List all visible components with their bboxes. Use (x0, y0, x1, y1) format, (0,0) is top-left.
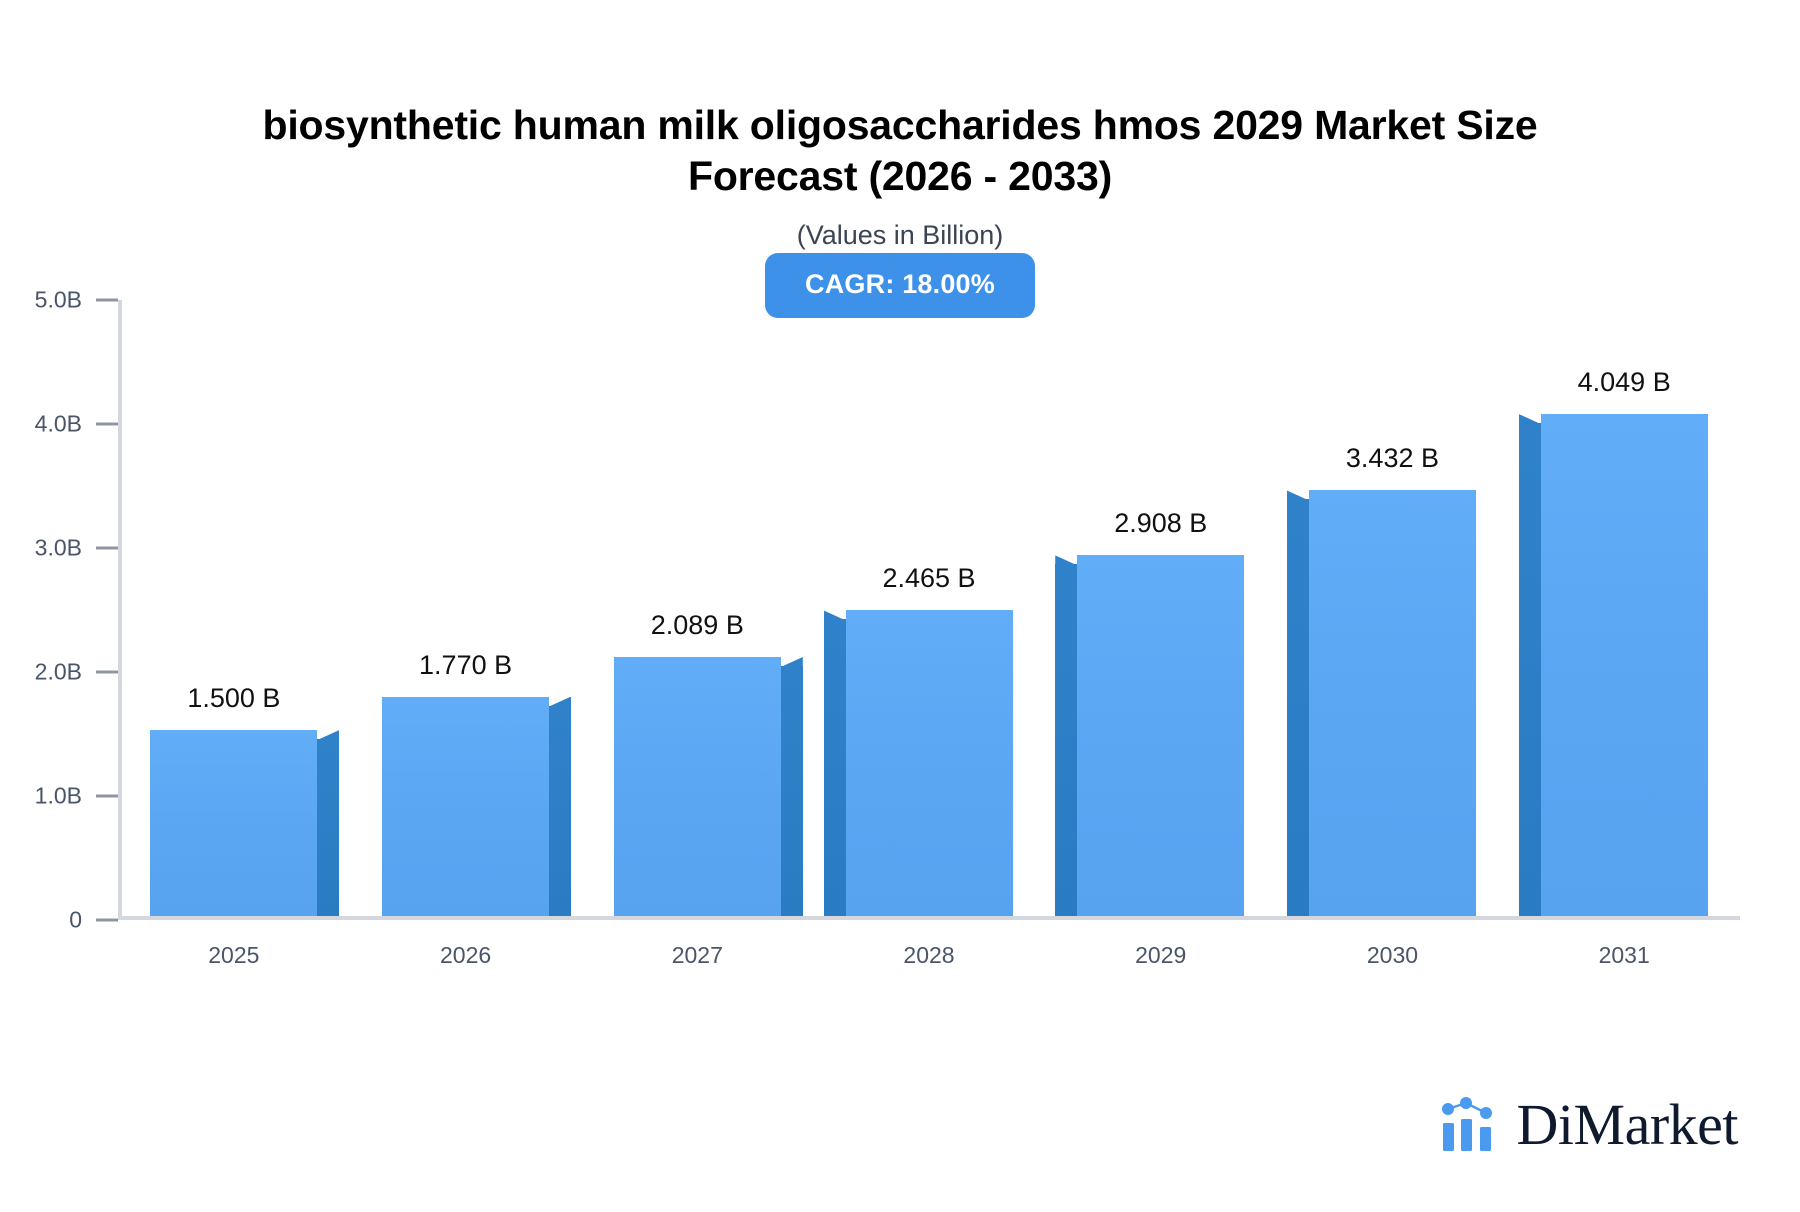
bar-front-face (382, 697, 549, 916)
bar-side-face (549, 706, 571, 916)
bar-slot: 1.500 B (118, 300, 350, 916)
bar-slot: 2.089 B (581, 300, 813, 916)
bar-value-label: 3.432 B (1346, 443, 1439, 474)
bar-top-cap (1055, 555, 1077, 565)
bar-slot: 2.465 B (813, 300, 1045, 916)
bar-series: 1.500 B1.770 B2.089 B2.465 B2.908 B3.432… (118, 300, 1740, 916)
y-axis-tick: 3.0B (35, 535, 118, 562)
y-axis-tick-dash (96, 547, 118, 550)
bar[interactable]: 3.432 B (1309, 490, 1476, 916)
bar-value-label: 1.500 B (187, 683, 280, 714)
bar-value-label: 2.908 B (1114, 508, 1207, 539)
bar[interactable]: 4.049 B (1541, 414, 1708, 916)
bar-slot: 4.049 B (1508, 300, 1740, 916)
y-axis-tick: 2.0B (35, 659, 118, 686)
y-axis-tick-label: 3.0B (35, 535, 82, 562)
bar[interactable]: 1.500 B (150, 730, 317, 916)
bar-front-face (614, 657, 781, 916)
y-axis-tick-dash (96, 671, 118, 674)
bar-side-face (1055, 564, 1077, 916)
bar[interactable]: 2.908 B (1077, 555, 1244, 916)
bar-top-cap (1287, 490, 1309, 500)
x-axis-tick-label: 2028 (813, 942, 1045, 969)
page-title: biosynthetic human milk oligosaccharides… (0, 0, 1800, 202)
y-axis-tick: 5.0B (35, 287, 118, 314)
bar-value-label: 1.770 B (419, 650, 512, 681)
bar-front-face (1077, 555, 1244, 916)
y-axis-tick-dash (96, 299, 118, 302)
bar-chart-logo-icon (1441, 1097, 1503, 1153)
x-axis-tick-label: 2031 (1508, 942, 1740, 969)
y-axis-tick-label: 4.0B (35, 411, 82, 438)
dimarket-logo: DiMarket (1441, 1096, 1739, 1154)
y-axis-tick: 0 (69, 907, 118, 934)
bar-slot: 3.432 B (1277, 300, 1509, 916)
y-axis-tick-dash (96, 795, 118, 798)
y-axis-tick: 1.0B (35, 783, 118, 810)
bar-value-label: 2.465 B (882, 563, 975, 594)
bar[interactable]: 1.770 B (382, 697, 549, 916)
bar-front-face (150, 730, 317, 916)
bar-slot: 1.770 B (350, 300, 582, 916)
y-axis-tick-dash (96, 423, 118, 426)
bar-side-face (781, 666, 803, 916)
chart-canvas: biosynthetic human milk oligosaccharides… (0, 0, 1800, 1212)
y-axis-tick-label: 2.0B (35, 659, 82, 686)
x-axis-tick-label: 2025 (118, 942, 350, 969)
y-axis-tick-dash (96, 919, 118, 922)
y-axis-tick-label: 5.0B (35, 287, 82, 314)
x-axis-labels: 2025202620272028202920302031 (118, 942, 1740, 969)
x-axis-tick-label: 2030 (1277, 942, 1509, 969)
x-axis-tick-label: 2026 (350, 942, 582, 969)
bar-front-face (846, 610, 1013, 916)
bar-value-label: 2.089 B (651, 610, 744, 641)
bar-value-label: 4.049 B (1578, 367, 1671, 398)
chart-header: biosynthetic human milk oligosaccharides… (0, 0, 1800, 251)
y-axis-tick: 4.0B (35, 411, 118, 438)
bar-side-face (824, 619, 846, 916)
chart-subtitle: (Values in Billion) (0, 202, 1800, 251)
brand-name: DiMarket (1517, 1096, 1739, 1154)
bar[interactable]: 2.465 B (846, 610, 1013, 916)
x-axis-line (118, 916, 1740, 920)
bar-side-face (1519, 423, 1541, 916)
x-axis-tick-label: 2027 (581, 942, 813, 969)
x-axis-tick-label: 2029 (1045, 942, 1277, 969)
bar[interactable]: 2.089 B (614, 657, 781, 916)
bar-front-face (1541, 414, 1708, 916)
bar-top-cap (1519, 414, 1541, 424)
bar-side-face (1287, 499, 1309, 916)
bar-front-face (1309, 490, 1476, 916)
y-axis-tick-label: 0 (69, 907, 82, 934)
bar-slot: 2.908 B (1045, 300, 1277, 916)
y-axis-tick-label: 1.0B (35, 783, 82, 810)
plot-area: 01.0B2.0B3.0B4.0B5.0B 1.500 B1.770 B2.08… (118, 300, 1740, 920)
bar-side-face (317, 739, 339, 916)
